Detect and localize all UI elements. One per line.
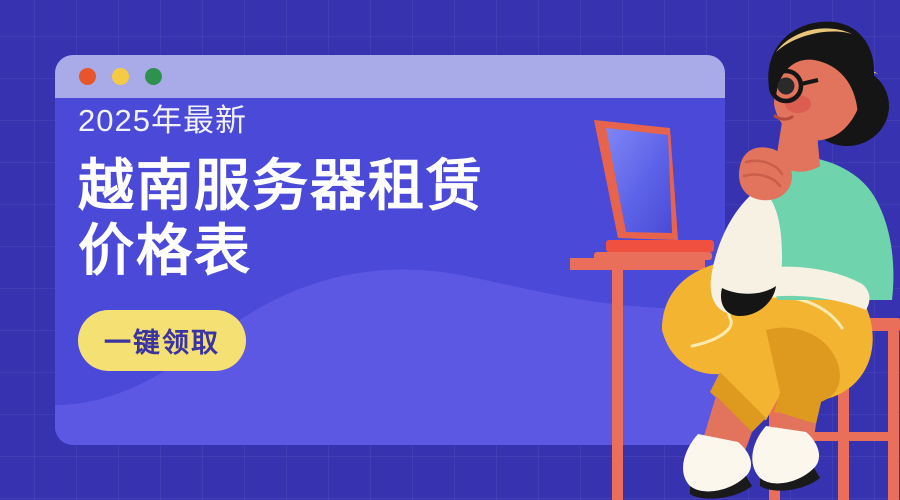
headline-line-2: 价格表 (78, 219, 618, 284)
maximize-dot[interactable] (145, 68, 162, 85)
claim-button[interactable]: 一键领取 (78, 310, 246, 371)
eyebrow-text: 2025年最新 (78, 105, 618, 136)
headline-block: 2025年最新 越南服务器租赁 价格表 一键领取 (78, 105, 618, 371)
person-illustration (570, 0, 900, 500)
shoes (683, 426, 820, 499)
laptop (594, 120, 714, 260)
minimize-dot[interactable] (112, 68, 129, 85)
promo-banner: 2025年最新 越南服务器租赁 价格表 一键领取 (0, 0, 900, 500)
close-dot[interactable] (79, 68, 96, 85)
headline-line-1: 越南服务器租赁 (78, 154, 618, 219)
